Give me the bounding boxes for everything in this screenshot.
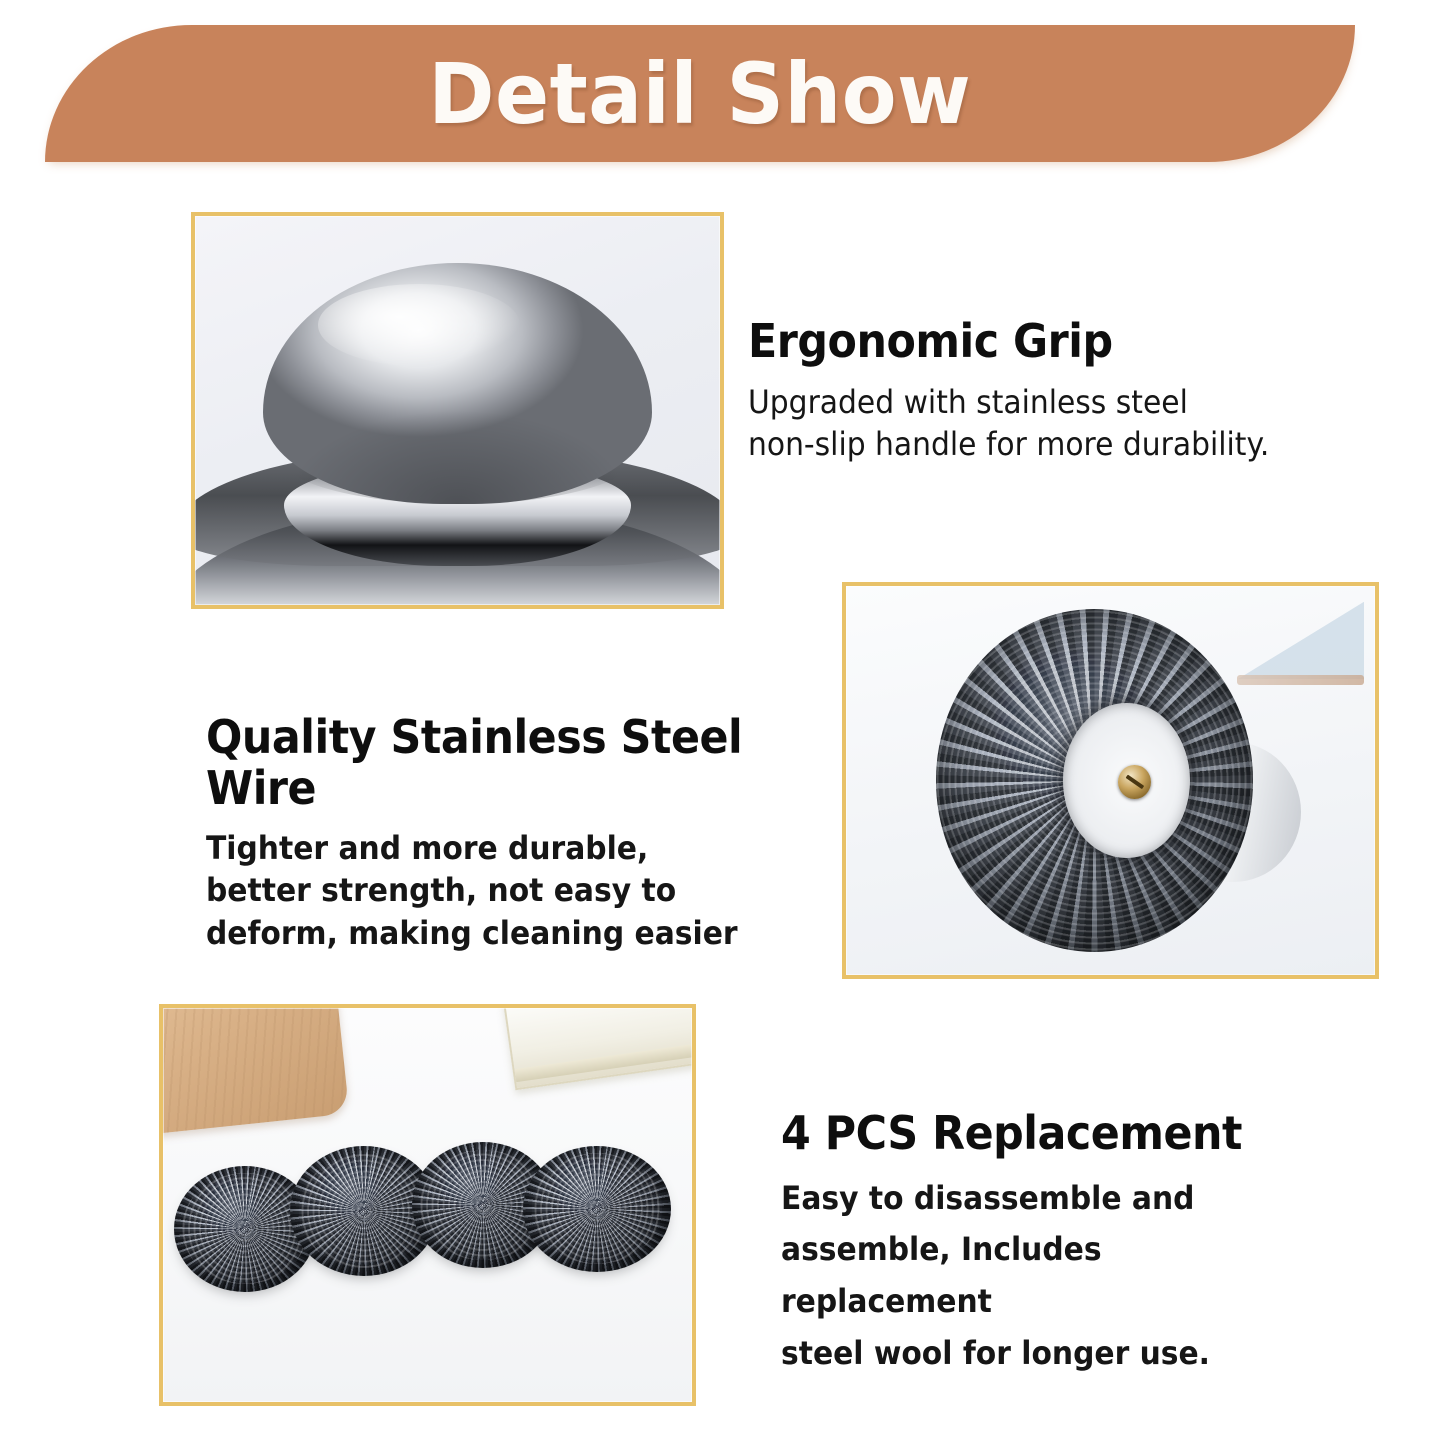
feature-description-line: steel wool for longer use. bbox=[781, 1328, 1302, 1380]
scrubber-ball bbox=[523, 1146, 671, 1272]
feature-description: Upgraded with stainless steel non-slip h… bbox=[748, 381, 1306, 465]
feature-title: Ergonomic Grip bbox=[748, 316, 1306, 367]
product-photo-wire-ball bbox=[846, 586, 1375, 975]
feature-description-line: assemble, Includes replacement bbox=[781, 1224, 1302, 1328]
feature-image-4-pcs-replacement bbox=[159, 1004, 696, 1406]
feature-text-4-pcs-replacement: 4 PCS Replacement Easy to disassemble an… bbox=[781, 1108, 1341, 1380]
feature-image-ergonomic-grip bbox=[191, 212, 724, 609]
feature-text-ergonomic-grip: Ergonomic Grip Upgraded with stainless s… bbox=[748, 316, 1348, 465]
feature-description-line: deform, making cleaning easier bbox=[206, 912, 801, 954]
feature-description: Easy to disassemble and assemble, Includ… bbox=[781, 1173, 1302, 1380]
page-title: Detail Show bbox=[429, 52, 972, 136]
feature-description-line: non-slip handle for more durability. bbox=[748, 423, 1306, 465]
feature-description-line: Tighter and more durable, bbox=[206, 827, 801, 869]
feature-description-line: Upgraded with stainless steel bbox=[748, 381, 1306, 423]
product-photo-four-scrubbers bbox=[163, 1008, 692, 1402]
header-banner: Detail Show bbox=[45, 25, 1355, 162]
feature-description: Tighter and more durable, better strengt… bbox=[206, 827, 801, 954]
feature-image-quality-stainless-steel-wire bbox=[842, 582, 1379, 979]
background-tan-line bbox=[1237, 675, 1364, 684]
feature-title: Quality Stainless Steel Wire bbox=[206, 712, 801, 813]
feature-description-line: Easy to disassemble and bbox=[781, 1173, 1302, 1225]
product-photo-handle-knob bbox=[195, 216, 720, 605]
feature-description-line: better strength, not easy to bbox=[206, 869, 801, 911]
feature-title: 4 PCS Replacement bbox=[781, 1108, 1302, 1159]
feature-text-quality-stainless-steel-wire: Quality Stainless Steel Wire Tighter and… bbox=[206, 712, 846, 954]
